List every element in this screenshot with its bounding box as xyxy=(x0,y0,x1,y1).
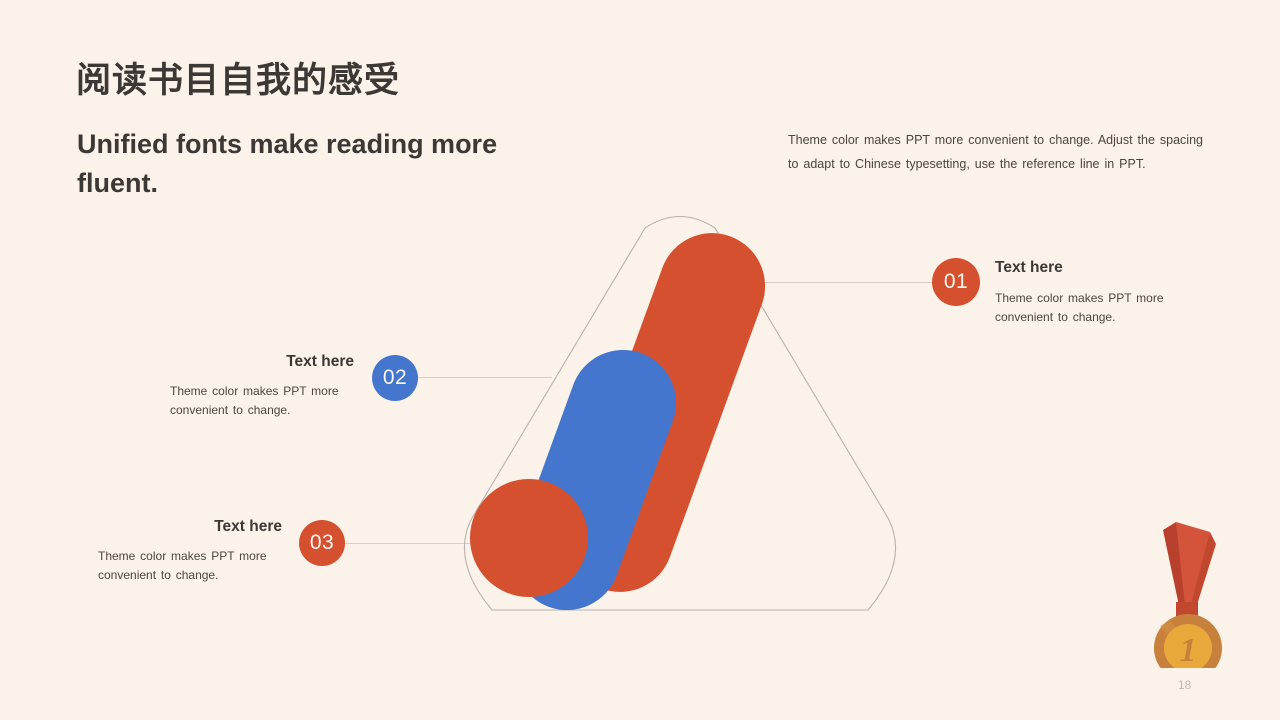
slide-canvas: 阅读书目自我的感受 Unified fonts make reading mor… xyxy=(0,0,1280,720)
callout-01-title: Text here xyxy=(995,259,1063,277)
small-red-circle xyxy=(470,479,588,597)
first-place-medal-icon: 1 xyxy=(1138,508,1238,668)
badge-01[interactable]: 01 xyxy=(932,258,980,306)
rounded-triangle-diagram xyxy=(440,200,920,640)
callout-03-title: Text here xyxy=(98,518,282,536)
callout-02-body: Theme color makes PPT more convenient to… xyxy=(170,382,354,420)
callout-03-body: Theme color makes PPT more convenient to… xyxy=(98,547,282,585)
callout-01-body: Theme color makes PPT more convenient to… xyxy=(995,289,1195,327)
badge-02[interactable]: 02 xyxy=(372,355,418,401)
intro-paragraph: Theme color makes PPT more convenient to… xyxy=(788,128,1208,176)
badge-02-label: 02 xyxy=(383,366,407,390)
badge-01-label: 01 xyxy=(944,270,968,294)
page-subtitle-en: Unified fonts make reading more fluent. xyxy=(77,125,517,203)
callout-02-title: Text here xyxy=(170,353,354,371)
page-number: 18 xyxy=(1178,678,1191,692)
medal-number-label: 1 xyxy=(1180,632,1197,668)
badge-03[interactable]: 03 xyxy=(299,520,345,566)
page-title-cn: 阅读书目自我的感受 xyxy=(76,52,400,103)
badge-03-label: 03 xyxy=(310,531,334,555)
